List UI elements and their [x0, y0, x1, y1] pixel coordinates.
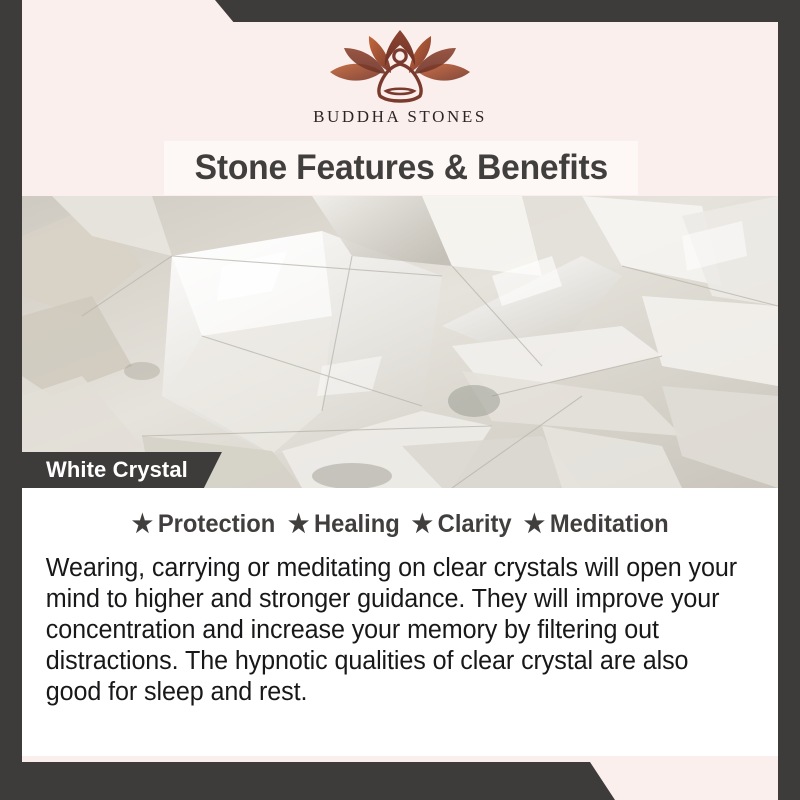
page-title: Stone Features & Benefits [194, 148, 607, 188]
benefit-label: Clarity [437, 510, 511, 539]
benefit-label: Meditation [550, 510, 669, 539]
star-icon: ★ [132, 512, 153, 537]
right-dark-edge [778, 0, 800, 800]
white-crystal-cluster-photo: White Crystal [22, 196, 778, 488]
benefit-item-protection: ★ Protection [132, 510, 275, 539]
star-icon: ★ [411, 512, 432, 537]
left-dark-edge [0, 0, 22, 800]
stone-name-label: White Crystal [22, 452, 222, 488]
star-icon: ★ [288, 512, 309, 537]
star-icon: ★ [524, 512, 545, 537]
benefits-description-panel: ★ Protection ★ Healing ★ Clarity ★ Medit… [22, 488, 778, 756]
stone-description-text: Wearing, carrying or meditating on clear… [32, 553, 757, 709]
crystal-photo-artwork [22, 196, 778, 488]
benefit-item-meditation: ★ Meditation [524, 510, 669, 539]
stone-name-text: White Crystal [46, 457, 188, 483]
benefit-item-clarity: ★ Clarity [411, 510, 511, 539]
brand-name: BUDDHA STONES [313, 107, 487, 127]
stone-benefits-infographic: BUDDHA STONES Stone Features & Benefits [0, 0, 800, 800]
brand-header: BUDDHA STONES [22, 22, 778, 140]
benefit-item-healing: ★ Healing [288, 510, 400, 539]
benefit-label: Healing [314, 510, 400, 539]
title-banner: Stone Features & Benefits [164, 141, 638, 195]
benefit-label: Protection [158, 510, 275, 539]
benefits-list: ★ Protection ★ Healing ★ Clarity ★ Medit… [32, 510, 768, 539]
lotus-meditation-figure-icon [320, 28, 480, 106]
